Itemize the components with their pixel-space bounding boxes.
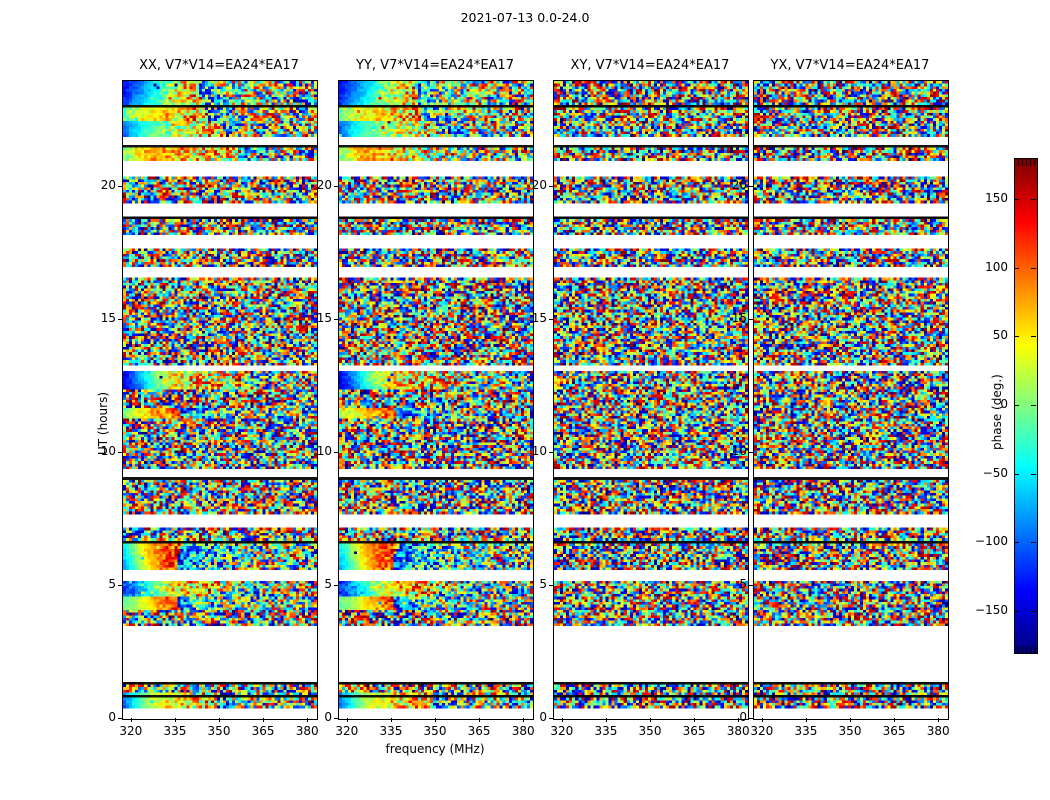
y-tickmark: [334, 319, 338, 320]
y-tick-label: 5: [517, 577, 547, 591]
x-tick-label: 350: [630, 724, 670, 738]
colorbar-tickmark: [1031, 611, 1036, 612]
colorbar-tickmark: [1014, 474, 1019, 475]
y-tick-label: 15: [517, 311, 547, 325]
x-tick-label: 320: [742, 724, 782, 738]
y-tick-label: 20: [517, 178, 547, 192]
colorbar-tickmark: [1031, 336, 1036, 337]
y-tickmark: [549, 452, 553, 453]
waterfall-panel-yy[interactable]: [338, 80, 534, 720]
x-tick-label: 365: [674, 724, 714, 738]
x-tick-label: 365: [243, 724, 283, 738]
panel-title-xy: XY, V7*V14=EA24*EA17: [553, 58, 747, 73]
colorbar-tickmark: [1014, 336, 1019, 337]
x-tick-label: 350: [415, 724, 455, 738]
y-tickmark: [118, 186, 122, 187]
colorbar-tick-label: −150: [968, 603, 1008, 617]
x-tick-label: 335: [155, 724, 195, 738]
x-tickmark: [175, 718, 176, 722]
x-axis-label: frequency (MHz): [335, 742, 535, 756]
panel-title-xx: XX, V7*V14=EA24*EA17: [122, 58, 316, 73]
colorbar-tickmark: [1014, 268, 1019, 269]
y-tick-label: 10: [717, 444, 747, 458]
waterfall-panel-yx[interactable]: [753, 80, 949, 720]
x-tick-label: 335: [371, 724, 411, 738]
x-tickmark: [263, 718, 264, 722]
x-tickmark: [435, 718, 436, 722]
y-tick-label: 0: [302, 710, 332, 724]
x-tick-label: 350: [199, 724, 239, 738]
x-tickmark: [938, 718, 939, 722]
y-tickmark: [549, 718, 553, 719]
x-tick-label: 380: [287, 724, 327, 738]
x-tick-label: 335: [586, 724, 626, 738]
y-tickmark: [749, 718, 753, 719]
y-tick-label: 20: [717, 178, 747, 192]
y-tickmark: [749, 186, 753, 187]
y-tick-label: 5: [86, 577, 116, 591]
y-tick-label: 10: [517, 444, 547, 458]
x-tick-label: 320: [542, 724, 582, 738]
x-tickmark: [694, 718, 695, 722]
x-tickmark: [606, 718, 607, 722]
x-tickmark: [806, 718, 807, 722]
waterfall-panel-xy[interactable]: [553, 80, 749, 720]
colorbar-tick-label: 150: [968, 191, 1008, 205]
panel-title-yx: YX, V7*V14=EA24*EA17: [753, 58, 947, 73]
x-tickmark: [131, 718, 132, 722]
x-tickmark: [650, 718, 651, 722]
panel-title-yy: YY, V7*V14=EA24*EA17: [338, 58, 532, 73]
colorbar-tickmark: [1014, 611, 1019, 612]
y-tickmark: [549, 319, 553, 320]
colorbar[interactable]: [1014, 158, 1038, 654]
x-tick-label: 320: [327, 724, 367, 738]
x-tick-label: 320: [111, 724, 151, 738]
y-tick-label: 0: [86, 710, 116, 724]
colorbar-tick-label: 100: [968, 260, 1008, 274]
y-tickmark: [118, 718, 122, 719]
x-tickmark: [894, 718, 895, 722]
y-tickmark: [749, 585, 753, 586]
figure-canvas: 2021-07-13 0.0-24.0 XX, V7*V14=EA24*EA17…: [0, 0, 1050, 800]
x-tick-label: 380: [503, 724, 543, 738]
y-tick-label: 5: [717, 577, 747, 591]
x-tick-label: 335: [786, 724, 826, 738]
colorbar-label: phase (deg.): [990, 374, 1004, 450]
x-tickmark: [850, 718, 851, 722]
y-tick-label: 0: [717, 710, 747, 724]
y-tick-label: 10: [302, 444, 332, 458]
colorbar-tickmark: [1031, 268, 1036, 269]
x-tickmark: [562, 718, 563, 722]
colorbar-tickmark: [1031, 542, 1036, 543]
colorbar-tickmark: [1014, 542, 1019, 543]
y-tick-label: 20: [302, 178, 332, 192]
colorbar-tickmark: [1031, 474, 1036, 475]
colorbar-tick-label: 0: [968, 397, 1008, 411]
x-tick-label: 380: [918, 724, 958, 738]
y-tickmark: [334, 718, 338, 719]
y-tickmark: [549, 186, 553, 187]
y-tickmark: [118, 585, 122, 586]
colorbar-tickmark: [1014, 405, 1019, 406]
y-tickmark: [118, 452, 122, 453]
figure-suptitle: 2021-07-13 0.0-24.0: [0, 10, 1050, 25]
y-tick-label: 5: [302, 577, 332, 591]
y-tickmark: [334, 585, 338, 586]
colorbar-tickmark: [1014, 199, 1019, 200]
x-tickmark: [347, 718, 348, 722]
x-tickmark: [391, 718, 392, 722]
x-tickmark: [479, 718, 480, 722]
colorbar-tick-label: 50: [968, 328, 1008, 342]
y-tick-label: 15: [86, 311, 116, 325]
y-tickmark: [749, 319, 753, 320]
y-tickmark: [118, 319, 122, 320]
y-tickmark: [549, 585, 553, 586]
y-tick-label: 20: [86, 178, 116, 192]
y-tickmark: [334, 452, 338, 453]
colorbar-tick-label: −100: [968, 534, 1008, 548]
x-tickmark: [762, 718, 763, 722]
x-tick-label: 365: [459, 724, 499, 738]
y-tick-label: 15: [302, 311, 332, 325]
y-tick-label: 10: [86, 444, 116, 458]
colorbar-tickmark: [1031, 405, 1036, 406]
colorbar-tick-label: −50: [968, 466, 1008, 480]
y-tickmark: [749, 452, 753, 453]
x-tickmark: [219, 718, 220, 722]
x-tick-label: 350: [830, 724, 870, 738]
waterfall-panel-xx[interactable]: [122, 80, 318, 720]
y-tick-label: 0: [517, 710, 547, 724]
colorbar-tickmark: [1031, 199, 1036, 200]
x-tick-label: 365: [874, 724, 914, 738]
y-tick-label: 15: [717, 311, 747, 325]
y-tickmark: [334, 186, 338, 187]
